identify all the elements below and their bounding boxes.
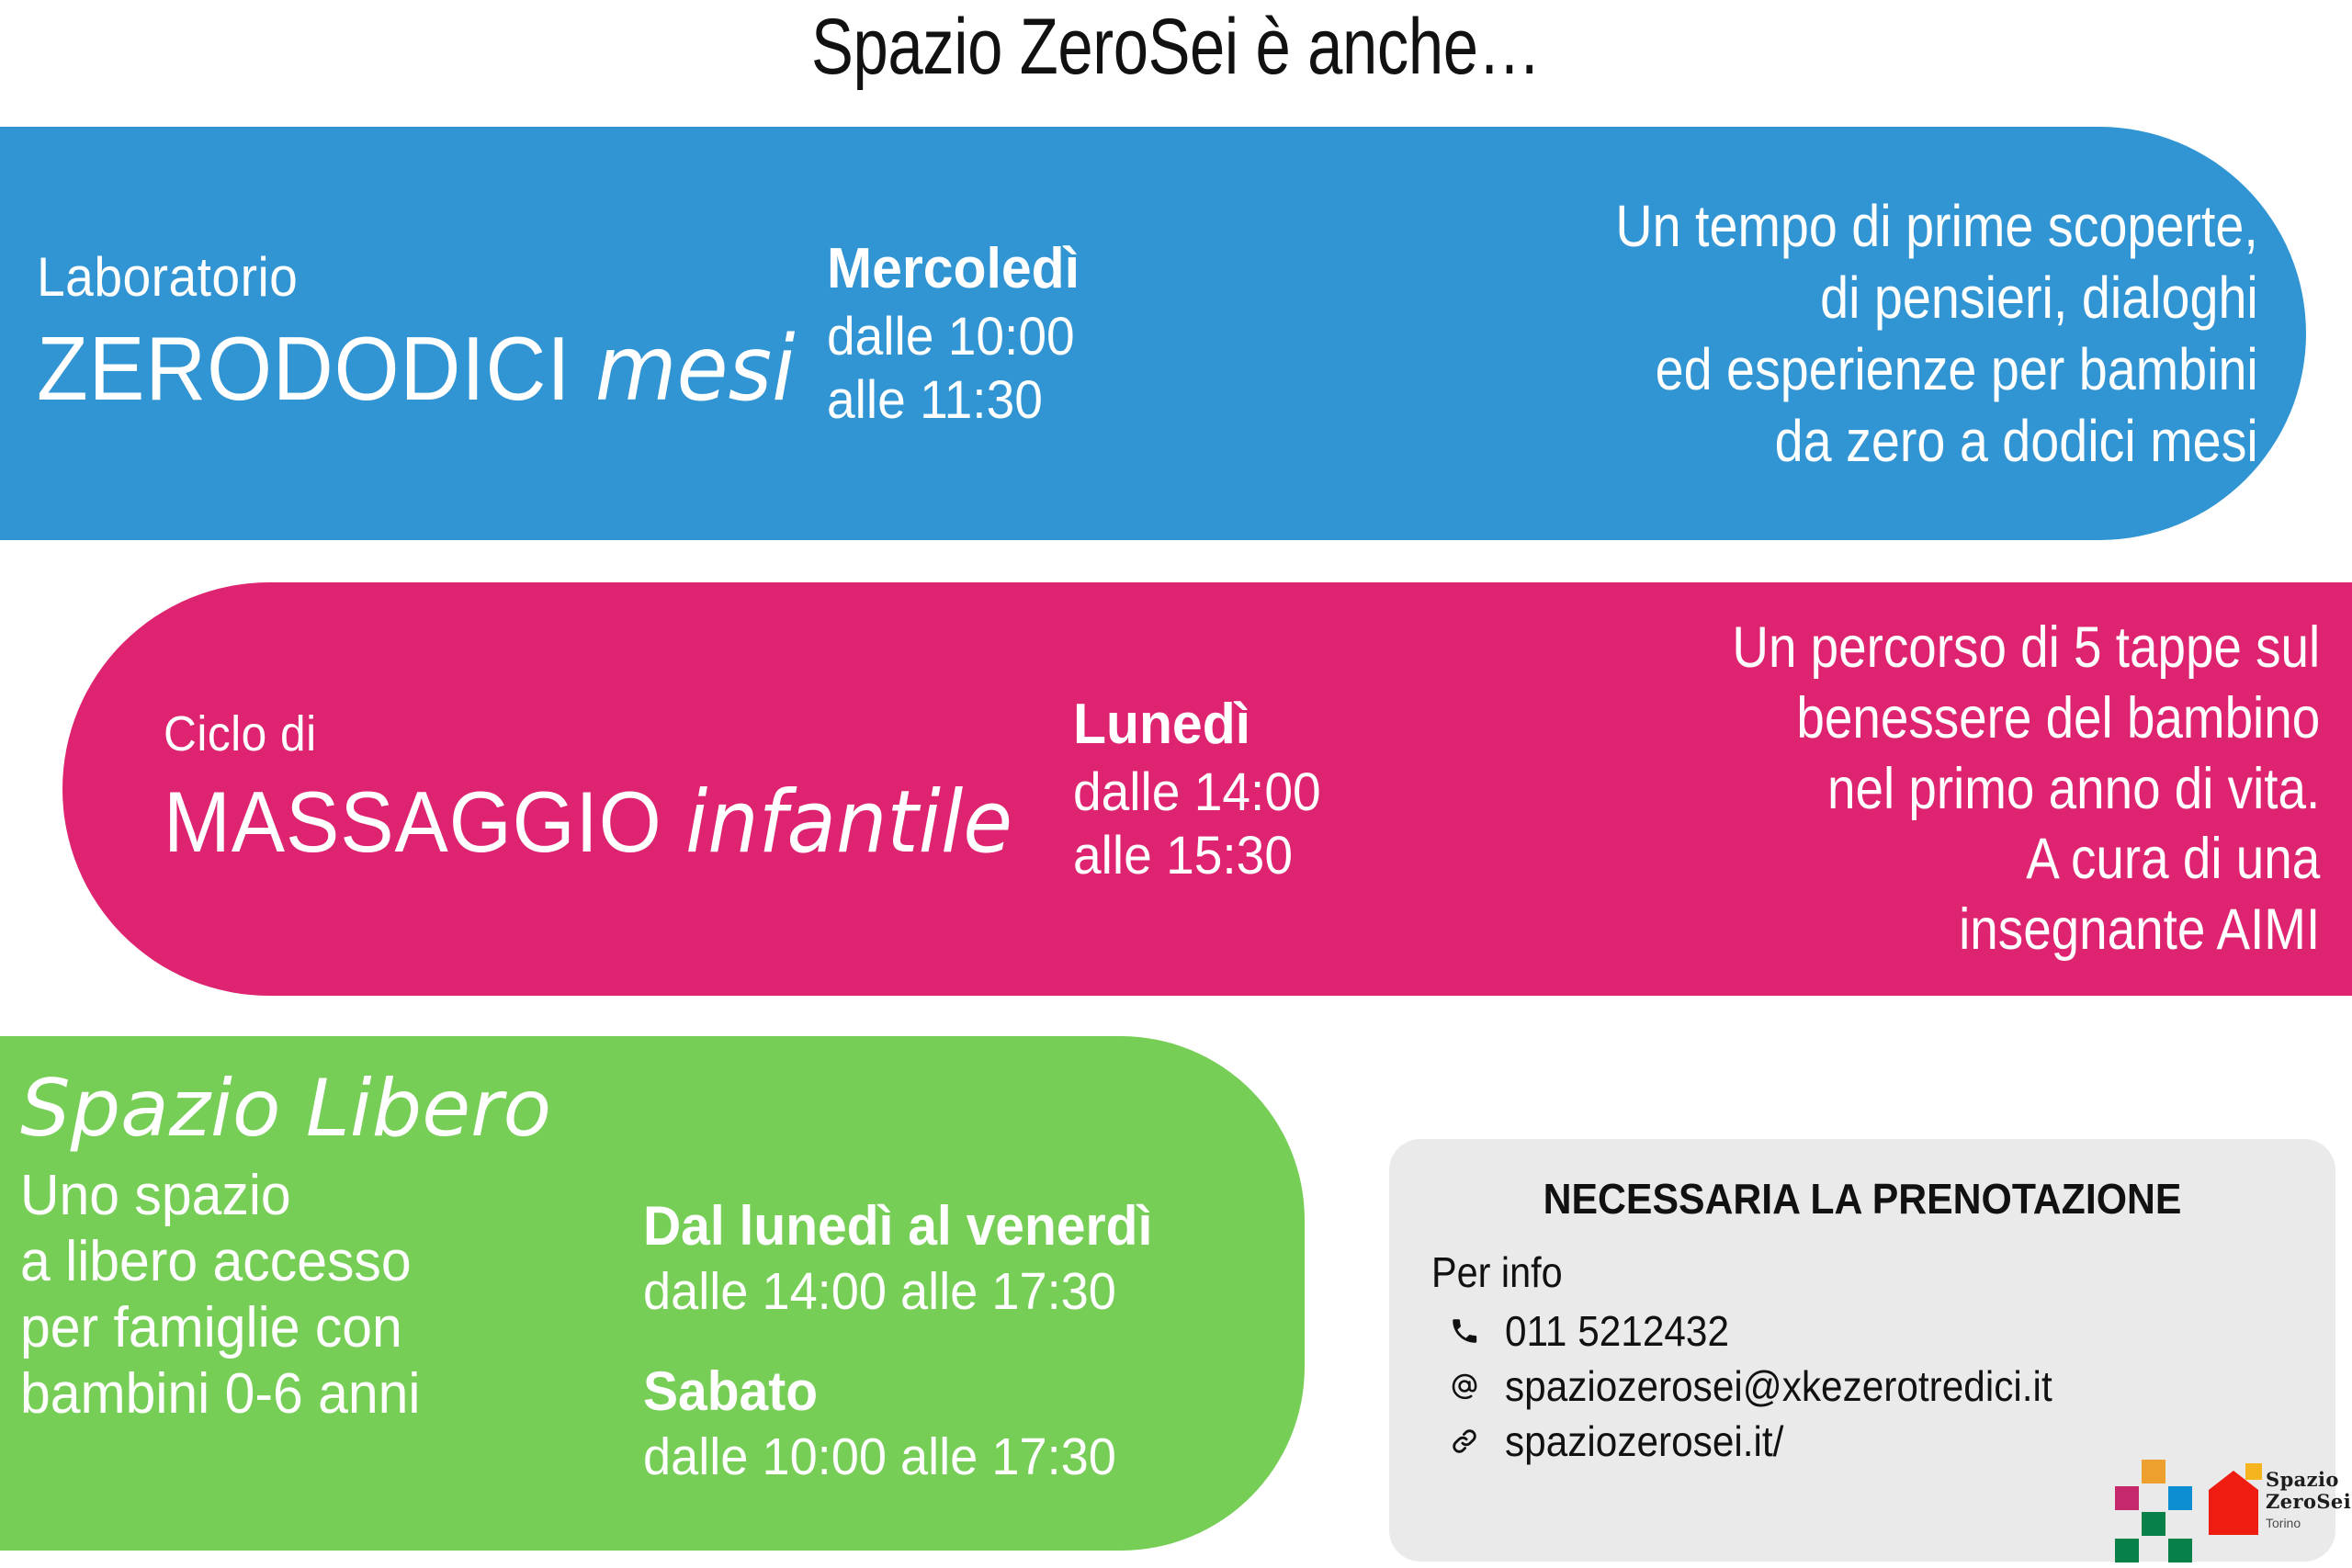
section-massaggio: Ciclo di MASSAGGIO infantile Lunedì dall… — [62, 582, 2352, 996]
logo-line-2: ZeroSei — [2266, 1492, 2351, 1511]
spazio-libero-weekday-hours: dalle 14:00 alle 17:30 — [643, 1262, 1116, 1321]
description-line: insegnante AIMI — [1575, 895, 2320, 965]
description-line: da zero a dodici mesi — [1371, 405, 2258, 477]
zerododici-title-block: Laboratorio ZERODODICI mesi — [0, 248, 827, 419]
spazio-libero-saturday-label: Sabato — [643, 1359, 1272, 1425]
section-zerododici: Laboratorio ZERODODICI mesi Mercoledì da… — [0, 127, 2306, 540]
spazio-libero-title: Spazio Libero — [20, 1067, 643, 1150]
description-line: Un tempo di prime scoperte, — [1371, 190, 2258, 262]
mosaic-square-green-3 — [2168, 1539, 2192, 1562]
zerododici-description: Un tempo di prime scoperte, di pensieri,… — [1371, 190, 2306, 477]
spazio-libero-schedule: Dal lunedì al venerdì dalle 14:00 alle 1… — [643, 1067, 1272, 1488]
website-url: spaziozerosei.it/ — [1505, 1416, 1783, 1466]
spazio-libero-title-block: Spazio Libero Uno spazio a libero access… — [0, 1067, 643, 1427]
phone-icon — [1444, 1310, 1485, 1352]
logo-strip: Spazio ZeroSei Torino — [2115, 1444, 2339, 1554]
page-title: Spazio ZeroSei è anche… — [235, 6, 2117, 88]
zerododici-title-main: ZERODODICI — [37, 318, 571, 419]
logo-wordmark: Spazio ZeroSei Torino — [2266, 1470, 2351, 1529]
mosaic-square-green-2 — [2115, 1539, 2139, 1562]
per-info-label: Per info — [1431, 1247, 2207, 1297]
spazio-libero-saturday-hours: dalle 10:00 alle 17:30 — [643, 1427, 1116, 1486]
massaggio-headline: MASSAGGIO infantile — [164, 775, 1010, 870]
massaggio-from: dalle 14:00 — [1073, 762, 1321, 822]
massaggio-title-script: infantile — [685, 773, 1012, 873]
contact-row-phone[interactable]: 011 5212432 — [1431, 1306, 2293, 1356]
house-shape — [2209, 1471, 2258, 1535]
zerododici-schedule: Mercoledì dalle 10:00 alle 11:30 — [827, 235, 1211, 432]
description-line: nel primo anno di vita. — [1575, 754, 2320, 825]
mosaic-square-magenta — [2115, 1486, 2139, 1510]
phone-number: 011 5212432 — [1505, 1306, 1729, 1356]
poster-root: Spazio ZeroSei è anche… Laboratorio ZERO… — [0, 0, 2352, 1568]
colored-squares-logo — [2115, 1460, 2194, 1539]
massaggio-description: Un percorso di 5 tappe sul benessere del… — [1575, 613, 2352, 965]
house-accent-square — [2245, 1463, 2262, 1480]
massaggio-title-block: Ciclo di MASSAGGIO infantile — [62, 708, 1073, 869]
massaggio-kicker: Ciclo di — [164, 708, 1001, 761]
description-line: benessere del bambino — [1575, 683, 2320, 754]
body-line: Uno spazio — [20, 1163, 612, 1229]
spazio-libero-weekday-label: Dal lunedì al venerdì — [643, 1194, 1272, 1259]
description-line: ed esperienze per bambini — [1371, 333, 2258, 405]
booking-required-heading: NECESSARIA LA PRENOTAZIONE — [1462, 1174, 2263, 1224]
zerododici-headline: ZERODODICI mesi — [37, 321, 772, 419]
description-line: A cura di una — [1575, 824, 2320, 895]
mosaic-square-orange — [2142, 1460, 2165, 1483]
description-line: di pensieri, dialoghi — [1371, 262, 2258, 333]
at-sign-icon — [1444, 1365, 1485, 1407]
email-address: spaziozerosei@xkezerotredici.it — [1505, 1361, 2052, 1411]
body-line: per famiglie con — [20, 1295, 612, 1361]
zerododici-title-script: mesi — [595, 317, 796, 422]
logo-line-3: Torino — [2266, 1517, 2351, 1529]
body-line: a libero accesso — [20, 1229, 612, 1295]
logo-line-1: Spazio — [2266, 1470, 2351, 1489]
contact-row-email[interactable]: spaziozerosei@xkezerotredici.it — [1431, 1361, 2293, 1411]
spazio-libero-body: Uno spazio a libero accesso per famiglie… — [20, 1163, 612, 1427]
zerododici-from: dalle 10:00 — [827, 307, 1075, 367]
schedule-spacer — [643, 1323, 1272, 1359]
massaggio-day: Lunedì — [1073, 691, 1440, 758]
section-spazio-libero: Spazio Libero Uno spazio a libero access… — [0, 1036, 1305, 1551]
body-line: bambini 0-6 anni — [20, 1361, 612, 1427]
house-icon — [2209, 1463, 2258, 1535]
mosaic-square-green-1 — [2142, 1512, 2165, 1536]
spazio-zerosei-house-logo: Spazio ZeroSei Torino — [2209, 1463, 2351, 1535]
massaggio-to: alle 15:30 — [1073, 826, 1293, 886]
massaggio-schedule: Lunedì dalle 14:00 alle 15:30 — [1073, 691, 1440, 887]
massaggio-title-main: MASSAGGIO — [164, 773, 662, 870]
description-line: Un percorso di 5 tappe sul — [1575, 613, 2320, 683]
zerododici-to: alle 11:30 — [827, 370, 1043, 430]
zerododici-kicker: Laboratorio — [37, 248, 763, 306]
mosaic-square-blue — [2168, 1486, 2192, 1510]
link-icon — [1444, 1420, 1485, 1462]
zerododici-day: Mercoledì — [827, 235, 1211, 302]
